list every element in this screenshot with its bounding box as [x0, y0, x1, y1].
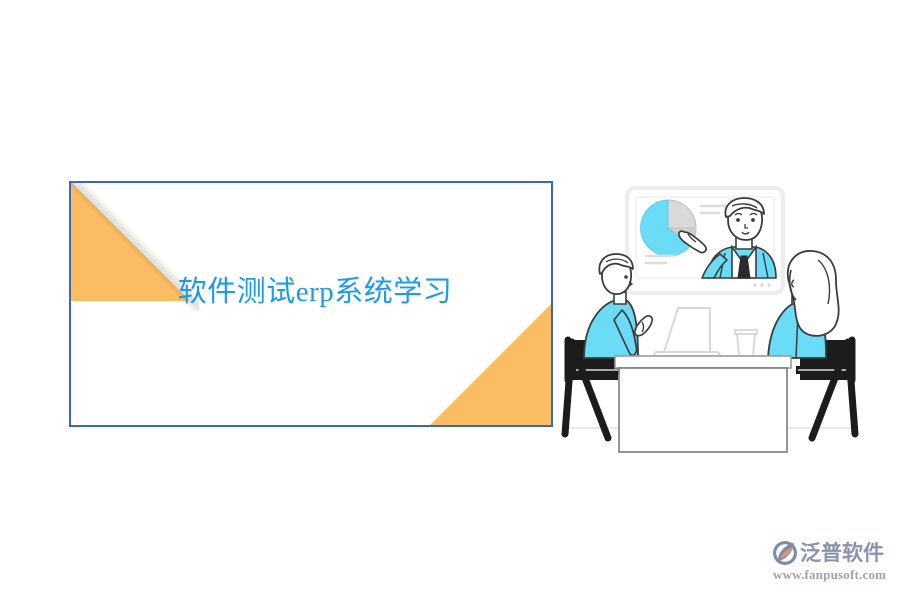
- cup-icon: [728, 330, 764, 359]
- fanpu-circle-logo-icon: [772, 540, 798, 566]
- illustration-svg: [560, 170, 860, 470]
- page-title: 软件测试erp系统学习: [71, 275, 551, 309]
- logo-wordmark: 泛普软件: [800, 540, 884, 566]
- pie-chart-icon: [641, 200, 696, 256]
- banner-card: 软件测试erp系统学习: [69, 181, 553, 427]
- wall-mounted-display: [627, 188, 783, 293]
- video-conference-illustration: [560, 170, 860, 470]
- orange-triangle-bottom-right-icon: [429, 303, 551, 425]
- laptop-icon: [652, 308, 722, 358]
- desk: [615, 356, 791, 452]
- three-dots-icon: [753, 283, 770, 286]
- logo-url: www.fanpusoft.com: [773, 567, 892, 583]
- brand-logo[interactable]: 泛普软件 www.fanpusoft.com: [772, 538, 892, 586]
